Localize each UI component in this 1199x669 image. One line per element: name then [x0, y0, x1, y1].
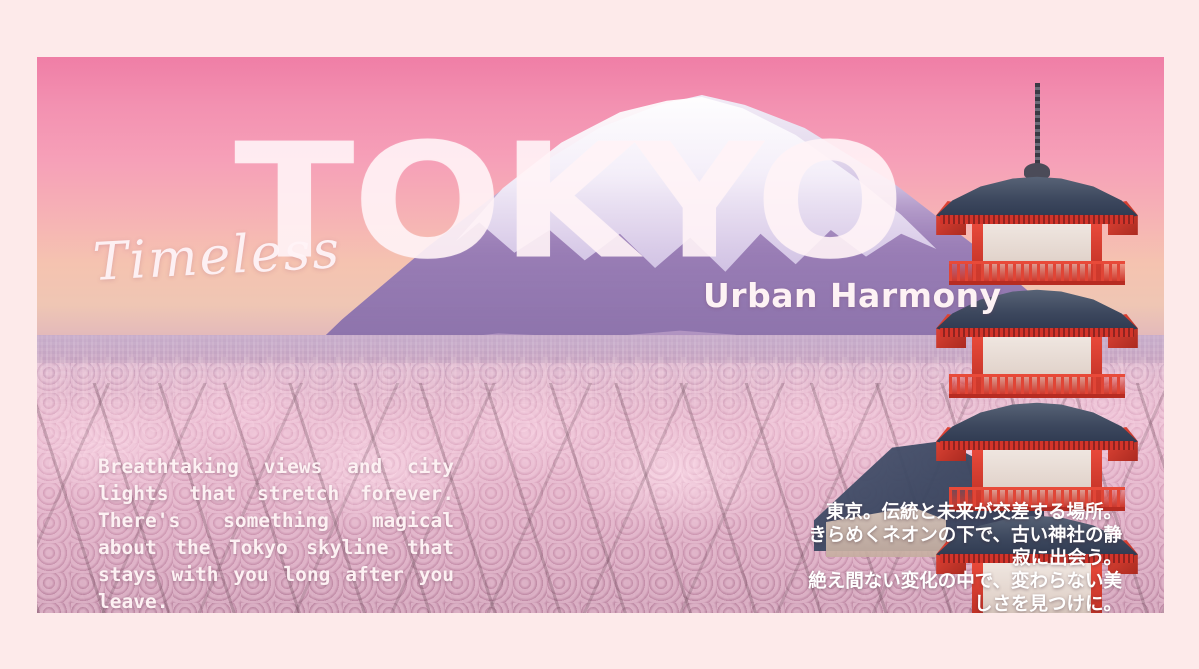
- japanese-copy-line: 絶え間ない変化の中で、変わらない美しさを見つけに。: [804, 570, 1122, 613]
- pagoda-eave: [940, 441, 1133, 450]
- japanese-copy: 東京。伝統と未来が交差する場所。きらめくネオンの下で、古い神社の静寂に出会う。絶…: [804, 501, 1122, 613]
- poster-canvas: Timeless TOKYO Urban Harmony Breathtakin…: [0, 0, 1199, 669]
- pagoda-roof: [936, 401, 1138, 445]
- hero-photo: Timeless TOKYO Urban Harmony Breathtakin…: [37, 57, 1164, 613]
- body-copy: Breathtaking views and city lights that …: [98, 453, 454, 613]
- pagoda-balcony: [949, 374, 1125, 398]
- pagoda-eave: [940, 215, 1133, 224]
- japanese-copy-line: 東京。伝統と未来が交差する場所。: [804, 501, 1122, 524]
- page-title: TOKYO: [234, 123, 903, 282]
- japanese-copy-line: きらめくネオンの下で、古い神社の静寂に出会う。: [804, 524, 1122, 570]
- pagoda-spire: [1035, 83, 1040, 167]
- pagoda-eave: [940, 328, 1133, 337]
- page-subtitle: Urban Harmony: [703, 276, 1002, 315]
- pagoda-roof: [936, 175, 1138, 219]
